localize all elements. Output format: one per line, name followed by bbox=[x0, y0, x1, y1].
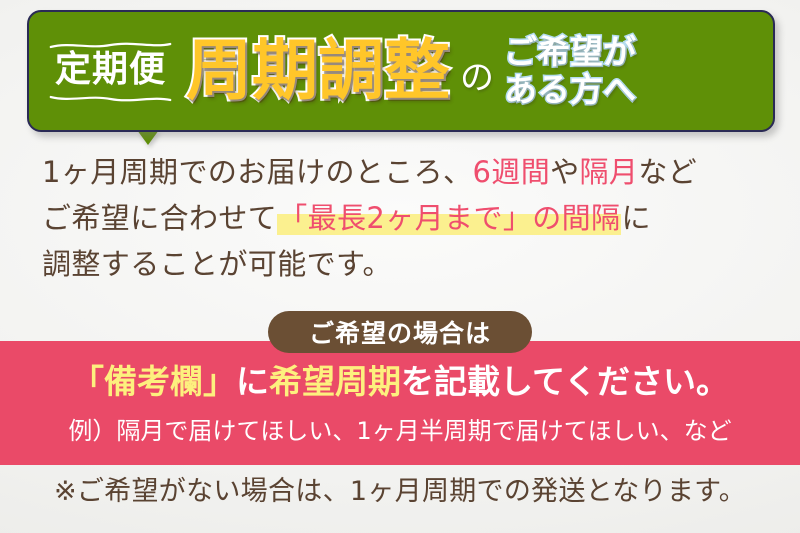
description-line-1-part-c: や bbox=[550, 155, 579, 189]
request-case-pill: ご希望の場合は bbox=[268, 311, 532, 353]
description-line-1-part-a: 1ヶ月周期でのお届けのところ、 bbox=[42, 155, 472, 189]
header-section: 定期便 周期調整 の ご希望が ある方へ bbox=[27, 10, 775, 132]
description-line-2-part-a: ご希望に合わせて bbox=[42, 201, 277, 235]
description-highlight-every-other-month: 隔月 bbox=[580, 155, 639, 189]
instruction-main-part-b: に bbox=[236, 362, 269, 401]
header-wish-line-2: ある方へ bbox=[504, 71, 636, 109]
description-highlight-max-two-months: 「最長2ヶ月まで」の間隔 bbox=[277, 201, 621, 235]
description-line-2-part-c: に bbox=[621, 201, 650, 235]
instruction-main-part-d: を記載してください。 bbox=[401, 362, 729, 401]
request-case-pill-label: ご希望の場合は bbox=[309, 314, 491, 350]
header-content-row: 定期便 周期調整 の ご希望が ある方へ bbox=[27, 10, 775, 132]
description-line-3: 調整することが可能です。 bbox=[42, 242, 772, 288]
instruction-highlight-remarks-field: 「備考欄」 bbox=[71, 362, 236, 401]
wavy-rule-bottom-icon bbox=[49, 93, 172, 102]
description-paragraph: 1ヶ月周期でのお届けのところ、6週間や隔月など ご希望に合わせて「最長2ヶ月まで… bbox=[42, 150, 772, 287]
instruction-highlight-desired-cycle: 希望周期 bbox=[269, 362, 401, 401]
speech-bubble-tail bbox=[137, 130, 159, 145]
header-connector-particle: の bbox=[460, 61, 494, 95]
promo-banner: 定期便 周期調整 の ご希望が ある方へ 1ヶ月周期でのお届けのところ、6週間や… bbox=[0, 0, 800, 533]
description-line-1-part-e: など bbox=[638, 155, 697, 189]
header-wish-line-1: ご希望が bbox=[504, 33, 636, 71]
header-main-title: 周期調整 bbox=[186, 38, 450, 104]
subscription-badge-label: 定期便 bbox=[55, 52, 166, 88]
footer-note: ※ご希望がない場合は、1ヶ月周期での発送となります。 bbox=[0, 478, 800, 505]
wavy-rule-top-icon bbox=[49, 41, 172, 50]
description-line-2: ご希望に合わせて「最長2ヶ月まで」の間隔に bbox=[42, 196, 772, 242]
header-wish-text: ご希望が ある方へ bbox=[504, 33, 636, 110]
subscription-badge: 定期便 bbox=[49, 42, 172, 100]
instruction-example-text: 例）隔月で届けてほしい、1ヶ月半周期で届けてほしい、など bbox=[0, 419, 800, 443]
instruction-band: 「備考欄」に希望周期を記載してください。 例）隔月で届けてほしい、1ヶ月半周期で… bbox=[0, 341, 800, 465]
description-highlight-six-weeks: 6週間 bbox=[472, 155, 550, 189]
description-line-1: 1ヶ月周期でのお届けのところ、6週間や隔月など bbox=[42, 150, 772, 196]
instruction-main-text: 「備考欄」に希望周期を記載してください。 bbox=[0, 365, 800, 398]
